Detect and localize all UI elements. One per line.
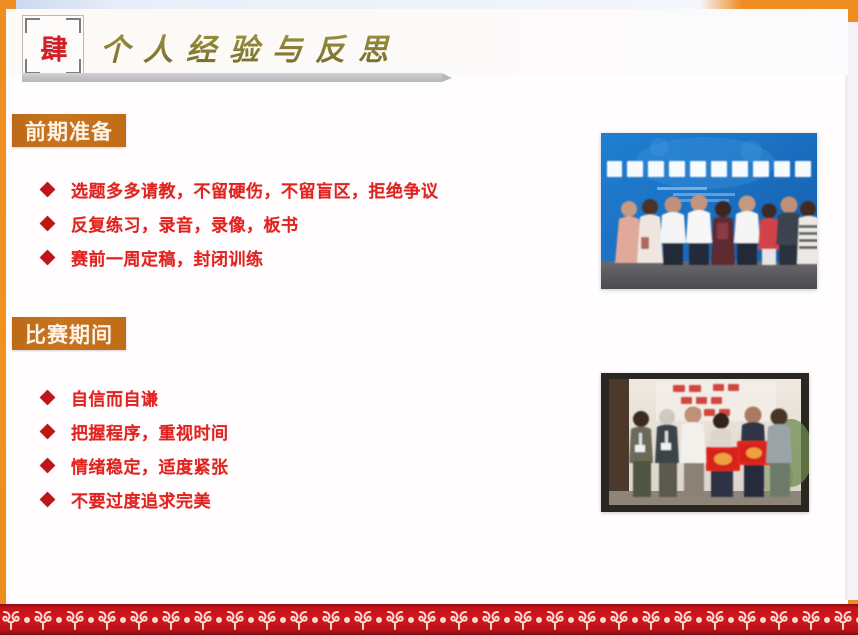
slide-top-border [0,0,858,9]
award-ceremony-photo [601,373,809,512]
presentation-slide: 肆 个人经验与反思 前期准备 选题多多请教，不留硬伤，不留盲区，拒绝争议 反复练… [0,0,858,635]
section-number-seal: 肆 [22,15,84,77]
dot-icon [792,617,798,623]
dot-icon [312,617,318,623]
ornament-motif [480,609,512,631]
swirl-icon [161,609,181,631]
dot-icon [728,617,734,623]
group-photo-stage-banner [601,133,817,289]
swirl-icon [609,609,629,631]
award-ceremony-photo-image [601,373,809,512]
list-item: 自信而自谦 [42,380,229,414]
ornament-motif [736,609,768,631]
ornament-motif [288,609,320,631]
swirl-icon [1,609,21,631]
ornament-motif [608,609,640,631]
swirl-icon [289,609,309,631]
slide-left-inner-gutter [6,9,10,621]
ornament-motif [832,609,858,631]
swirl-icon [801,609,821,631]
ornament-motif [128,609,160,631]
ornament-motif [576,609,608,631]
swirl-icon [129,609,149,631]
dot-icon [536,617,542,623]
dot-icon [696,617,702,623]
dot-icon [88,617,94,623]
title-underline-bar [22,73,442,82]
ornament-motif [0,609,32,631]
dot-icon [376,617,382,623]
slide-right-border [848,0,858,635]
list-item: 选题多多请教，不留硬伤，不留盲区，拒绝争议 [42,172,439,206]
dot-icon [184,617,190,623]
dot-icon [504,617,510,623]
dot-icon [760,617,766,623]
dot-icon [472,617,478,623]
dot-icon [280,617,286,623]
list-item-label: 不要过度追求完美 [71,487,211,512]
list-item-label: 自信而自谦 [71,385,159,410]
diamond-bullet-icon [40,181,56,197]
swirl-icon [33,609,53,631]
dot-icon [824,617,830,623]
ornament-motif-row [0,604,858,635]
dot-icon [120,617,126,623]
dot-icon [408,617,414,623]
swirl-icon [705,609,725,631]
list-item: 情绪稳定，适度紧张 [42,448,229,482]
diamond-bullet-icon [40,249,56,265]
dot-icon [600,617,606,623]
swirl-icon [353,609,373,631]
swirl-icon [641,609,661,631]
swirl-icon [769,609,789,631]
slide-right-inner-line [845,22,848,600]
swirl-icon [257,609,277,631]
ornament-motif [96,609,128,631]
diamond-bullet-icon [40,457,56,473]
ornament-motif [192,609,224,631]
ornament-motif [544,609,576,631]
ornament-motif [416,609,448,631]
dot-icon [216,617,222,623]
dot-icon [344,617,350,623]
slide-header: 肆 个人经验与反思 [10,9,848,75]
swirl-icon [545,609,565,631]
ornament-motif [32,609,64,631]
dot-icon [248,617,254,623]
list-item: 赛前一周定稿，封闭训练 [42,240,439,274]
ornament-motif [640,609,672,631]
bullet-list-during-competition: 自信而自谦 把握程序，重视时间 情绪稳定，适度紧张 不要过度追求完美 [42,380,229,516]
dot-icon [440,617,446,623]
list-item-label: 选题多多请教，不留硬伤，不留盲区，拒绝争议 [71,177,439,202]
swirl-icon [737,609,757,631]
ornament-motif [352,609,384,631]
ornament-motif [384,609,416,631]
ornament-motif [448,609,480,631]
dot-icon [568,617,574,623]
section-number-glyph: 肆 [23,16,85,78]
swirl-icon [417,609,437,631]
swirl-icon [65,609,85,631]
diamond-bullet-icon [40,389,56,405]
ornament-motif [256,609,288,631]
ornament-motif [768,609,800,631]
ornament-motif [320,609,352,631]
dot-icon [56,617,62,623]
page-title: 个人经验与反思 [100,21,401,73]
ornament-motif [672,609,704,631]
list-item-label: 反复练习，录音，录像，板书 [71,211,299,236]
title-underline-arrow-icon [442,73,452,82]
swirl-icon [449,609,469,631]
swirl-icon [225,609,245,631]
swirl-icon [321,609,341,631]
list-item: 把握程序，重视时间 [42,414,229,448]
swirl-icon [673,609,693,631]
ornament-motif [160,609,192,631]
ornament-motif [64,609,96,631]
slide-bottom-ornament-band [0,604,858,635]
section-header-during-competition: 比赛期间 [12,317,126,350]
ornament-motif [224,609,256,631]
diamond-bullet-icon [40,215,56,231]
dot-icon [632,617,638,623]
swirl-icon [833,609,853,631]
list-item: 反复练习，录音，录像，板书 [42,206,439,240]
list-item: 不要过度追求完美 [42,482,229,516]
list-item-label: 情绪稳定，适度紧张 [71,453,229,478]
ornament-motif [704,609,736,631]
swirl-icon [385,609,405,631]
diamond-bullet-icon [40,423,56,439]
bullet-list-preparation: 选题多多请教，不留硬伤，不留盲区，拒绝争议 反复练习，录音，录像，板书 赛前一周… [42,172,439,274]
section-header-preparation: 前期准备 [12,114,126,147]
dot-icon [152,617,158,623]
swirl-icon [513,609,533,631]
ornament-motif [800,609,832,631]
list-item-label: 把握程序，重视时间 [71,419,229,444]
swirl-icon [481,609,501,631]
swirl-icon [97,609,117,631]
group-photo-stage-banner-image [601,133,817,289]
dot-icon [664,617,670,623]
swirl-icon [577,609,597,631]
ornament-motif [512,609,544,631]
dot-icon [24,617,30,623]
list-item-label: 赛前一周定稿，封闭训练 [71,245,264,270]
diamond-bullet-icon [40,491,56,507]
swirl-icon [193,609,213,631]
